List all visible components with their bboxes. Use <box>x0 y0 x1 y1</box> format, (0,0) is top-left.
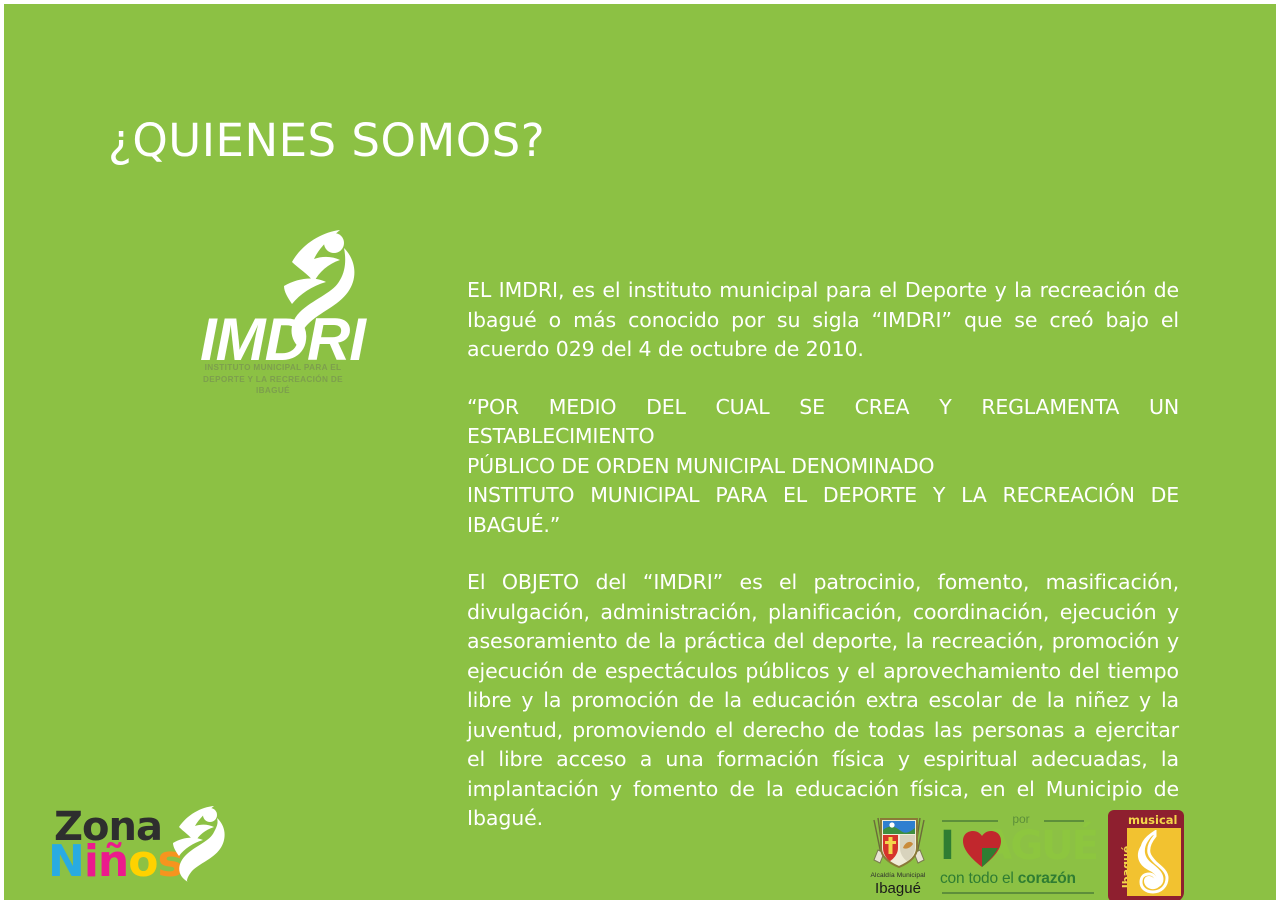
imdri-subtitle: INSTITUTO MUNICIPAL PARA EL DEPORTE Y LA… <box>188 362 358 397</box>
treble-clef-icon <box>1131 830 1177 894</box>
por-rule-right <box>1044 820 1084 822</box>
decree-line-4: IBAGUÉ.” <box>467 511 1179 541</box>
alcaldia-subtitle: Alcaldía Municipal <box>862 872 934 879</box>
paragraph-objeto: El OBJETO del “IMDRI” es el patrocinio, … <box>467 568 1179 834</box>
coat-of-arms-icon <box>870 810 928 872</box>
tagline-bold: corazón <box>1018 870 1076 887</box>
imdri-logo: IMDRI INSTITUTO MUNICIPAL PARA EL DEPORT… <box>182 226 392 396</box>
page-title: ¿QUIENES SOMOS? <box>108 114 545 167</box>
footer-logo-strip: Alcaldía Municipal Ibagué por IBAGUÉ con… <box>862 810 1184 900</box>
imdri-subtitle-line-1: INSTITUTO MUNICIPAL PARA EL <box>205 363 342 372</box>
imdri-subtitle-line-3: IBAGUÉ <box>256 386 290 395</box>
tagline-rule <box>942 892 1094 894</box>
ibague-tagline: con todo el corazón <box>940 870 1102 888</box>
ibague-corazon-logo: por IBAGUÉ con todo el corazón <box>940 812 1102 900</box>
slide-canvas: ¿QUIENES SOMOS? IMDRI INSTITUTO MUNICIPA… <box>4 4 1276 900</box>
tagline-plain: con todo el <box>940 870 1018 887</box>
imdri-subtitle-line-2: DEPORTE Y LA RECREACIÓN DE <box>203 375 343 384</box>
alcaldia-city-name: Ibagué <box>862 880 934 897</box>
ibague-letter-i: I <box>940 823 953 869</box>
body-copy: EL IMDRI, es el instituto municipal para… <box>467 276 1179 834</box>
ninos-letter-n-tilde: ñ <box>98 836 128 887</box>
ninos-letter-i: i <box>84 836 98 887</box>
running-person-icon <box>170 804 232 882</box>
paragraph-definition: EL IMDRI, es el instituto municipal para… <box>467 276 1179 365</box>
ninos-letter-o: o <box>128 836 157 887</box>
ibague-capital-musical-logo: musical Ibagué capital <box>1108 810 1184 900</box>
decree-line-3: INSTITUTO MUNICIPAL PARA EL DEPORTE Y LA… <box>467 481 1179 511</box>
decree-line-2: PÚBLICO DE ORDEN MUNICIPAL DENOMINADO <box>467 452 1179 482</box>
imdri-wordmark: IMDRI <box>200 310 365 370</box>
ninos-letter-n: N <box>48 836 84 887</box>
decree-line-1: “POR MEDIO DEL CUAL SE CREA Y REGLAMENTA… <box>467 393 1179 452</box>
alcaldia-ibague-logo: Alcaldía Municipal Ibagué <box>862 810 934 900</box>
zona-ninos-logo: Zona Niños <box>46 804 236 886</box>
musical-label: musical <box>1128 813 1177 827</box>
paragraph-decree-quote: “POR MEDIO DEL CUAL SE CREA Y REGLAMENTA… <box>467 393 1179 541</box>
heart-icon <box>962 830 1002 868</box>
ninos-word: Niños <box>48 836 183 887</box>
